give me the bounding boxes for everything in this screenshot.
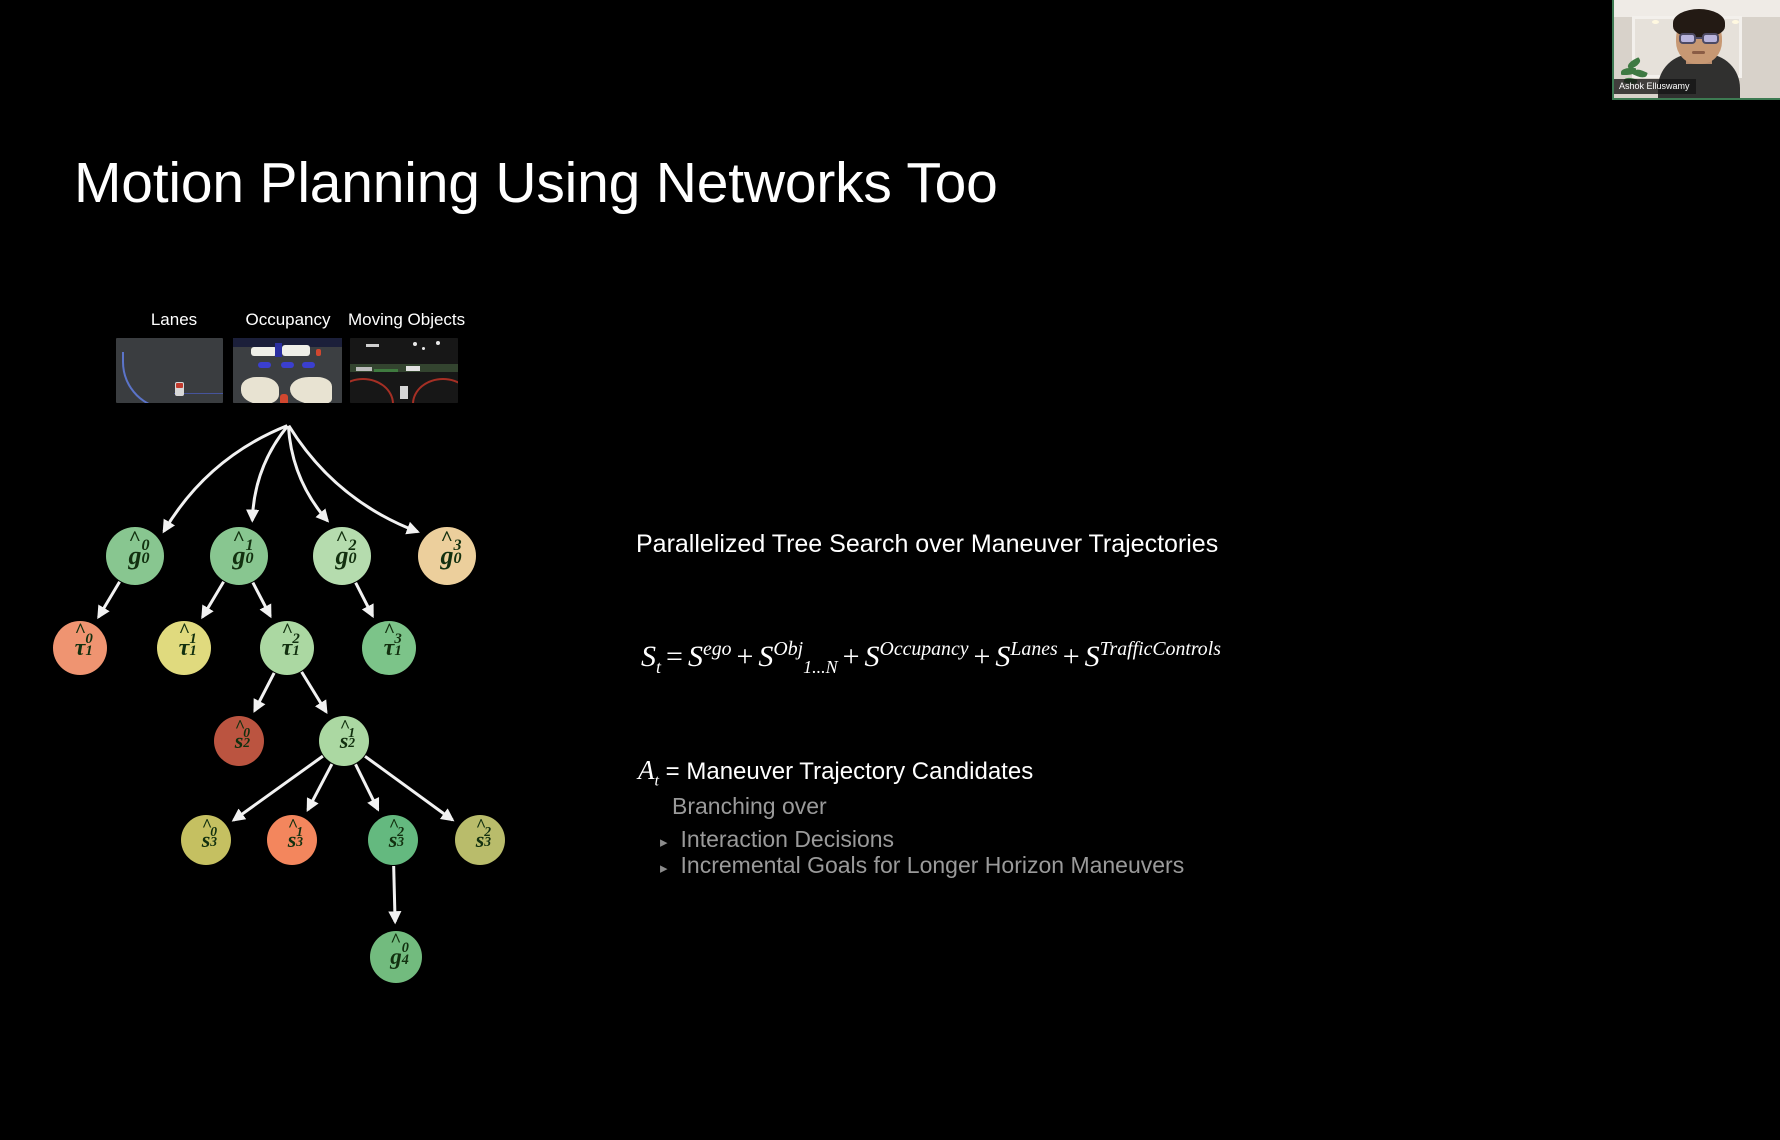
tree-node-label: s^23 [389,827,398,853]
tree-node-t3_1[interactable]: τ^31 [362,621,416,675]
tree-node-subscript: 3 [296,835,303,849]
tree-node-t1_1[interactable]: τ^11 [157,621,211,675]
webcam-glasses-bridge [1695,37,1702,39]
tree-edge-s1_2-to-s0_3 [234,756,323,820]
tree-node-subscript: 0 [246,551,254,567]
tree-node-hat-accent: ^ [476,816,483,834]
tree-edge-t2_1-to-s0_2 [255,673,275,711]
tree-node-subscript: 1 [189,644,196,659]
bullet-interaction-decisions: ▸Interaction Decisions [660,826,894,853]
action-equals-and-text: = Maneuver Trajectory Candidates [659,758,1033,785]
tree-edge-root-to-g3_0 [289,426,418,532]
tree-node-g3_0[interactable]: g^30 [418,527,476,585]
webcam-person-mouth [1692,51,1705,54]
tree-node-hat-accent: ^ [75,622,84,642]
tree-node-hat-accent: ^ [282,622,291,642]
tree-node-subscript: 3 [484,835,491,849]
tree-node-g2_0[interactable]: g^20 [313,527,371,585]
tree-node-hat-accent: ^ [336,528,347,549]
tree-node-label: g^20 [336,541,349,571]
tree-node-hat-accent: ^ [384,622,393,642]
branching-label: Branching over [672,793,827,820]
tree-node-hat-accent: ^ [179,622,188,642]
tree-edge-root-to-g2_0 [288,426,327,521]
tree-node-subscript: 1 [85,644,92,659]
tree-node-subscript: 1 [394,644,401,659]
tree-node-label: τ^01 [75,635,86,662]
tree-edge-s1_2-to-s1_3 [308,764,332,810]
tree-node-s2b_3[interactable]: s^23 [455,815,505,865]
tree-node-s0_3[interactable]: s^03 [181,815,231,865]
tree-edges [0,0,620,1060]
tree-node-label: g^00 [129,541,142,571]
tree-edge-s1_2-to-s2b_3 [365,756,452,820]
webcam-pip[interactable]: Ashok Elluswamy [1612,0,1780,100]
tree-node-label: τ^21 [282,635,293,662]
tree-node-subscript: 2 [348,736,355,750]
tree-node-s2_3[interactable]: s^23 [368,815,418,865]
tree-node-subscript: 3 [210,835,217,849]
tree-node-hat-accent: ^ [390,932,400,951]
tree-node-label: g^10 [233,541,246,571]
webcam-ceiling-light-3 [1732,20,1739,24]
tree-edge-t2_1-to-s1_2 [302,672,327,712]
tree-edge-g1_0-to-t1_1 [202,582,223,617]
tree-node-subscript: 0 [349,551,357,567]
tree-edge-g1_0-to-t2_1 [253,583,270,616]
state-equation-body: St=Sego+SObj1...N+SOccupancy+SLanes+STra… [641,640,1221,673]
bullet-text: Interaction Decisions [681,826,895,852]
tree-node-label: τ^11 [179,635,190,662]
tree-node-t2_1[interactable]: τ^21 [260,621,314,675]
tree-node-label: s^02 [235,728,244,754]
tree-node-subscript: 4 [402,953,409,967]
tree-node-g1_0[interactable]: g^10 [210,527,268,585]
tree-node-hat-accent: ^ [288,816,295,834]
tree-node-hat-accent: ^ [233,528,244,549]
slide-canvas: Motion Planning Using Networks Too Lanes… [0,0,1780,1140]
tree-node-subscript: 0 [454,551,462,567]
tree-node-label: g^30 [441,541,454,571]
tree-node-hat-accent: ^ [235,717,242,735]
tree-node-label: s^23 [476,827,485,853]
bullet-text: Incremental Goals for Longer Horizon Man… [681,852,1185,878]
action-definition: At = Maneuver Trajectory Candidates [638,755,1033,790]
tree-node-s0_2[interactable]: s^02 [214,716,264,766]
tree-edge-s1_2-to-s2_3 [356,764,378,809]
tree-node-hat-accent: ^ [441,528,452,549]
tree-node-label: τ^31 [384,635,395,662]
tree-node-s1_3[interactable]: s^13 [267,815,317,865]
bullet-marker-icon: ▸ [660,860,668,877]
webcam-ceiling-light-1 [1652,20,1659,24]
webcam-glasses-right-icon [1702,33,1719,44]
tree-node-subscript: 0 [142,551,150,567]
tree-node-g0_0[interactable]: g^00 [106,527,164,585]
tree-node-g0_4[interactable]: g^04 [370,931,422,983]
tree-node-hat-accent: ^ [202,816,209,834]
bullet-incremental-goals: ▸Incremental Goals for Longer Horizon Ma… [660,852,1184,879]
tree-node-hat-accent: ^ [340,717,347,735]
state-equation: St=Sego+SObj1...N+SOccupancy+SLanes+STra… [641,638,1221,678]
tree-edge-g0_0-to-t0_1 [98,582,119,617]
tree-node-subscript: 2 [243,736,250,750]
tree-node-label: s^13 [288,827,297,853]
tree-edge-root-to-g0_0 [164,426,287,532]
webcam-participant-name: Ashok Elluswamy [1614,79,1696,94]
tree-search-heading: Parallelized Tree Search over Maneuver T… [636,530,1218,559]
tree-node-label: s^03 [202,827,211,853]
tree-node-subscript: 1 [292,644,299,659]
action-symbol: At [638,755,659,785]
webcam-glasses-left-icon [1679,33,1696,44]
tree-node-hat-accent: ^ [129,528,140,549]
tree-node-hat-accent: ^ [389,816,396,834]
tree-node-label: g^04 [390,944,402,970]
bullet-marker-icon: ▸ [660,834,668,851]
tree-node-s1_2[interactable]: s^12 [319,716,369,766]
tree-edge-g2_0-to-t3_1 [356,583,373,616]
tree-node-label: s^12 [340,728,349,754]
tree-node-t0_1[interactable]: τ^01 [53,621,107,675]
tree-edge-s2_3-to-g0_4 [394,866,395,922]
tree-node-subscript: 3 [397,835,404,849]
